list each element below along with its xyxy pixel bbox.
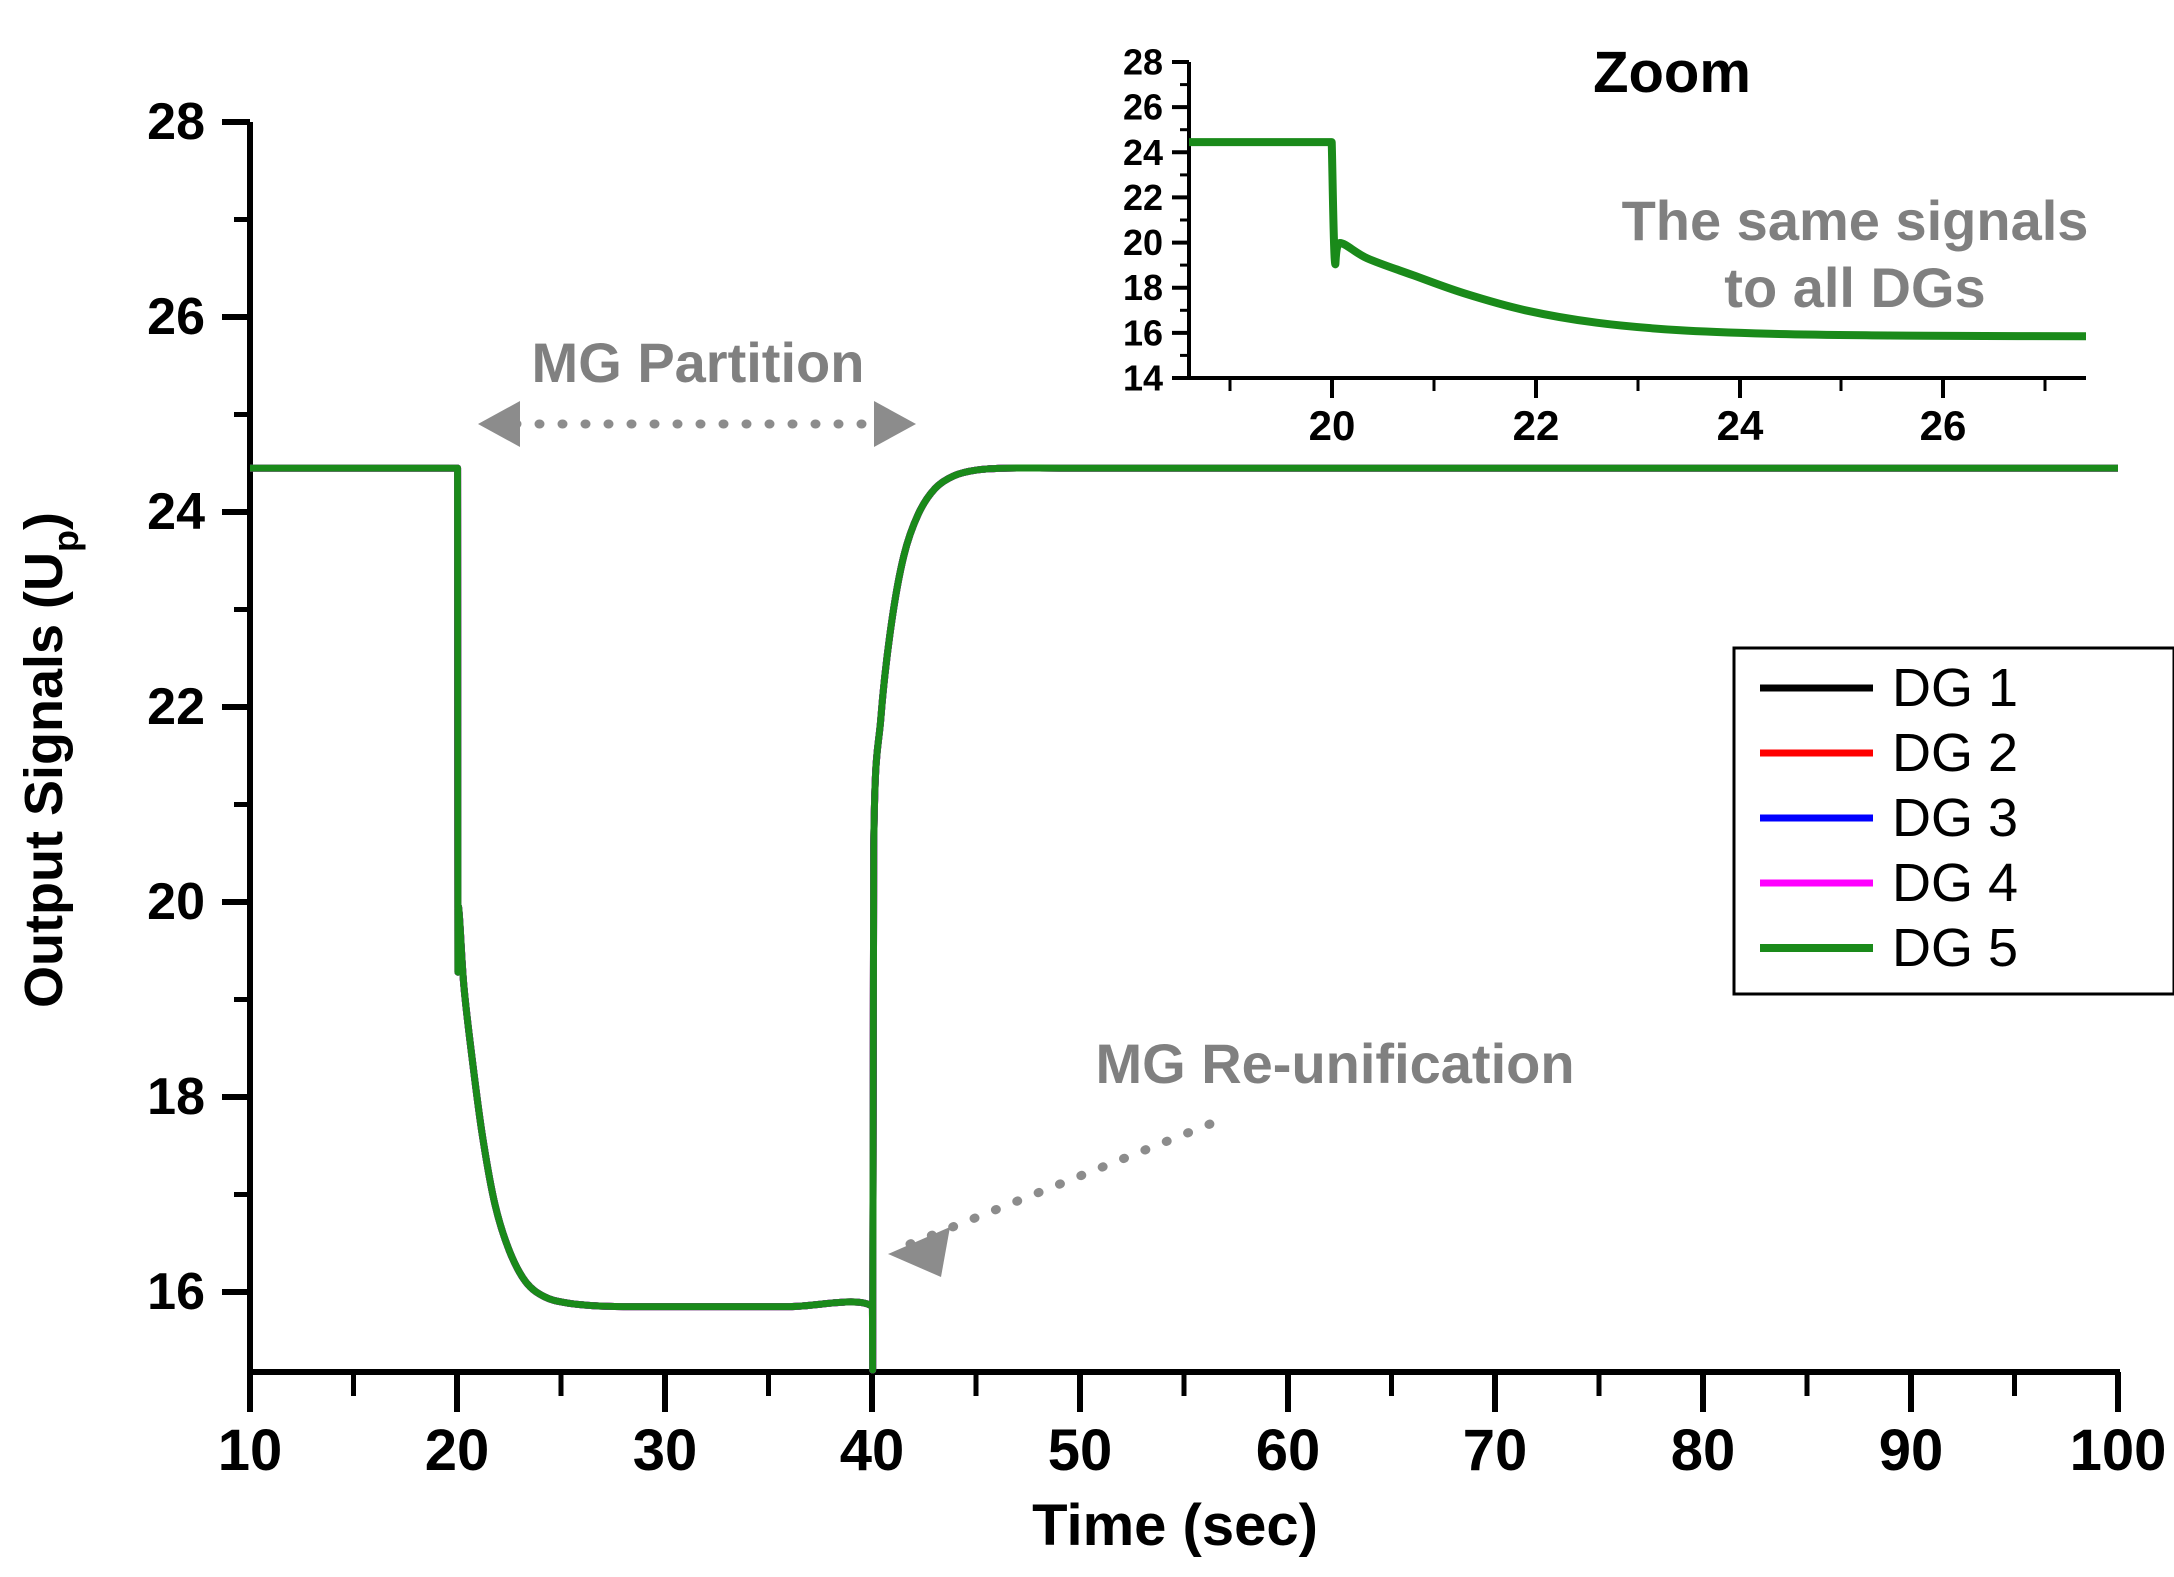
inset-y-tick-label: 24 bbox=[1123, 132, 1163, 173]
inset-x-tick-label: 26 bbox=[1920, 402, 1967, 449]
x-axis-title: Time (sec) bbox=[1032, 1493, 1318, 1558]
inset-x-tick-label: 22 bbox=[1513, 402, 1560, 449]
x-tick-label: 80 bbox=[1671, 1418, 1736, 1483]
x-tick-label: 30 bbox=[633, 1418, 698, 1483]
chart-figure: 28 26 24 22 20 18 16 bbox=[0, 0, 2174, 1577]
y-axis-title-subscript: p bbox=[45, 530, 86, 552]
inset-y-tick-label: 26 bbox=[1123, 87, 1163, 128]
inset-y-tick-label: 16 bbox=[1123, 312, 1163, 353]
inset-title: Zoom bbox=[1593, 40, 1751, 105]
inset-y-tick-label: 14 bbox=[1123, 358, 1163, 399]
legend-label-dg-4: DG 4 bbox=[1892, 853, 2018, 913]
x-tick-label: 60 bbox=[1256, 1418, 1321, 1483]
y-axis-title-main: Output Signals (U bbox=[14, 552, 74, 1008]
inset-x-tick-label: 20 bbox=[1309, 402, 1356, 449]
x-tick-label: 40 bbox=[840, 1418, 905, 1483]
inset-y-tick-label: 20 bbox=[1123, 222, 1163, 263]
legend-label-dg-2: DG 2 bbox=[1892, 723, 2018, 783]
inset-y-tick-label: 18 bbox=[1123, 267, 1163, 308]
x-tick-label: 20 bbox=[425, 1418, 490, 1483]
y-tick-label: 22 bbox=[147, 678, 205, 736]
legend[interactable]: DG 1 DG 2 DG 3 DG 4 DG 5 bbox=[1734, 648, 2174, 994]
inset-x-tick-label: 24 bbox=[1717, 402, 1764, 449]
mg-partition-label: MG Partition bbox=[532, 331, 865, 394]
mg-reunification-label: MG Re-unification bbox=[1095, 1032, 1574, 1095]
legend-label-dg-1: DG 1 bbox=[1892, 658, 2018, 718]
y-tick-label: 20 bbox=[147, 873, 205, 931]
x-tick-label: 50 bbox=[1048, 1418, 1113, 1483]
inset-note-line-2: to all DGs bbox=[1724, 256, 1985, 319]
inset-note-line-1: The same signals bbox=[1622, 189, 2089, 252]
legend-label-dg-5: DG 5 bbox=[1892, 918, 2018, 978]
x-tick-label: 90 bbox=[1879, 1418, 1944, 1483]
y-tick-label: 24 bbox=[147, 483, 205, 541]
x-tick-label: 10 bbox=[218, 1418, 283, 1483]
y-tick-label: 28 bbox=[147, 93, 205, 151]
y-tick-label: 26 bbox=[147, 288, 205, 346]
x-tick-label: 70 bbox=[1463, 1418, 1528, 1483]
legend-label-dg-3: DG 3 bbox=[1892, 788, 2018, 848]
inset-y-tick-label: 22 bbox=[1123, 177, 1163, 218]
y-tick-label: 18 bbox=[147, 1068, 205, 1126]
y-tick-label: 16 bbox=[147, 1263, 205, 1321]
chart-svg: 28 26 24 22 20 18 16 bbox=[0, 0, 2174, 1577]
x-tick-label: 100 bbox=[2070, 1418, 2167, 1483]
y-axis-title-suffix: ) bbox=[14, 512, 74, 530]
inset-y-tick-label: 28 bbox=[1123, 42, 1163, 83]
